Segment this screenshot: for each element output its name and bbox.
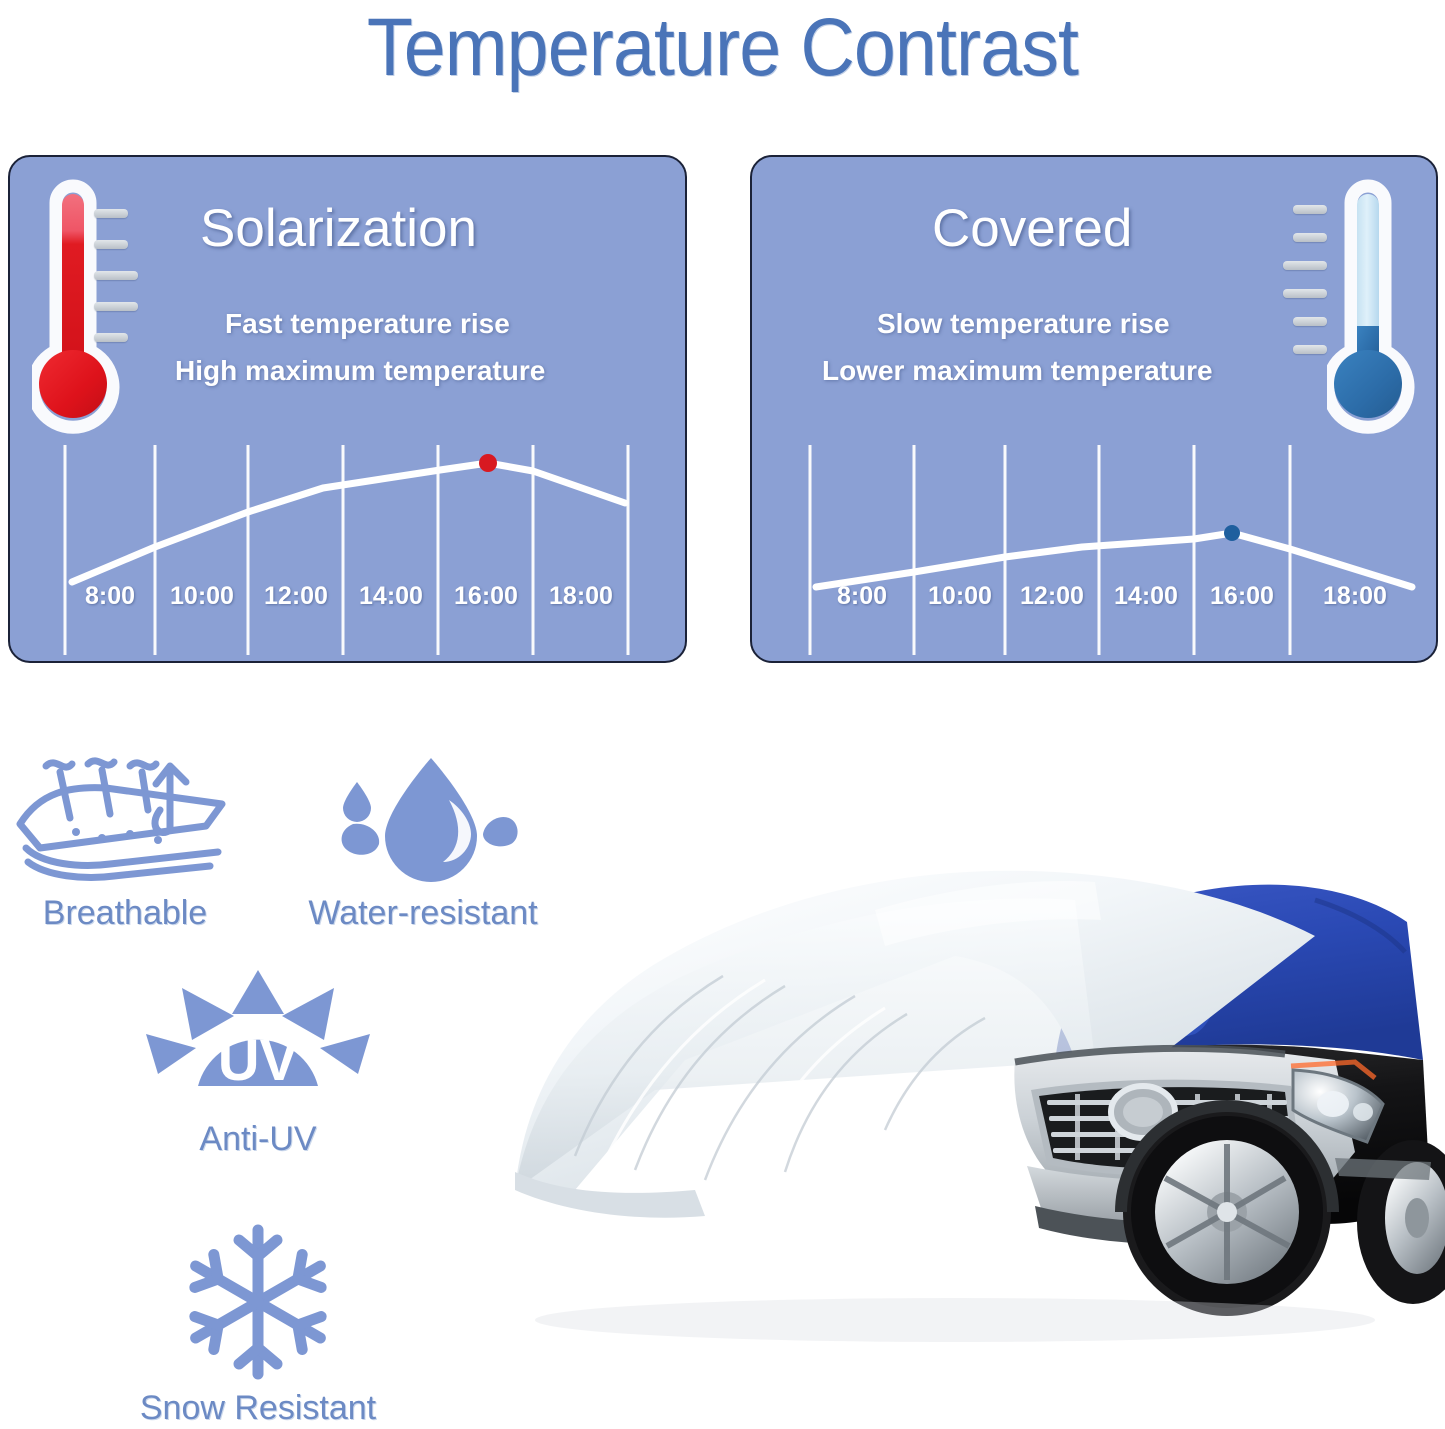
x-tick-label: 18:00 <box>1323 582 1387 611</box>
uv-sun-icon: UV <box>128 968 388 1118</box>
tick-mark <box>1293 317 1327 326</box>
thermometer-ticks-hot <box>94 209 144 364</box>
feature-snow-resistant: Snow Resistant <box>118 1222 398 1429</box>
feature-label: Snow Resistant <box>140 1389 376 1427</box>
feature-label: Breathable <box>43 894 207 932</box>
thermometer-ticks-cold <box>1277 205 1327 373</box>
tick-mark <box>94 333 128 342</box>
x-tick-label: 10:00 <box>928 582 992 611</box>
tick-mark <box>1283 261 1327 270</box>
suv-with-car-cover-photo <box>455 760 1445 1380</box>
panel-subtitle-1: Fast temperature rise <box>225 300 510 348</box>
tick-mark <box>1293 205 1327 214</box>
tick-mark <box>1293 233 1327 242</box>
tick-mark <box>94 271 138 280</box>
x-tick-label: 14:00 <box>359 582 423 611</box>
panel-subtitle-1: Slow temperature rise <box>877 300 1170 348</box>
x-tick-label: 10:00 <box>170 582 234 611</box>
tick-mark <box>1293 345 1327 354</box>
x-tick-label: 8:00 <box>85 582 135 611</box>
feature-anti-uv: UV Anti-UV <box>128 968 388 1160</box>
panel-subtitle-2: High maximum temperature <box>175 347 545 395</box>
feature-breathable: Breathable <box>0 752 250 934</box>
x-tick-label: 8:00 <box>837 582 887 611</box>
x-tick-label: 18:00 <box>549 582 613 611</box>
x-tick-label: 16:00 <box>454 582 518 611</box>
x-tick-label: 16:00 <box>1210 582 1274 611</box>
tick-mark <box>1283 289 1327 298</box>
page-title: Temperature Contrast <box>58 0 1387 98</box>
panel-heading-solarization: Solarization <box>200 199 477 259</box>
feature-label: Anti-UV <box>199 1120 316 1158</box>
chart-covered: 8:00 10:00 12:00 14:00 16:00 18:00 <box>752 437 1436 663</box>
panel-covered: Covered Slow temperature rise Lower maxi… <box>750 155 1438 663</box>
snowflake-icon <box>118 1222 398 1387</box>
tick-mark <box>94 240 128 249</box>
breathable-fabric-icon <box>0 752 250 892</box>
tick-mark <box>94 302 138 311</box>
x-tick-label: 12:00 <box>1020 582 1084 611</box>
panel-subtitle-2: Lower maximum temperature <box>822 347 1213 395</box>
x-tick-label: 12:00 <box>264 582 328 611</box>
panel-solarization: Solarization Fast temperature rise High … <box>8 155 687 663</box>
chart-solarization: 8:00 10:00 12:00 14:00 16:00 18:00 <box>10 437 685 663</box>
uv-icon-text: UV <box>218 1028 299 1093</box>
panel-heading-covered: Covered <box>932 199 1132 259</box>
x-tick-label: 14:00 <box>1114 582 1178 611</box>
tick-mark <box>94 209 128 218</box>
thermometer-hot-icon <box>32 171 152 446</box>
